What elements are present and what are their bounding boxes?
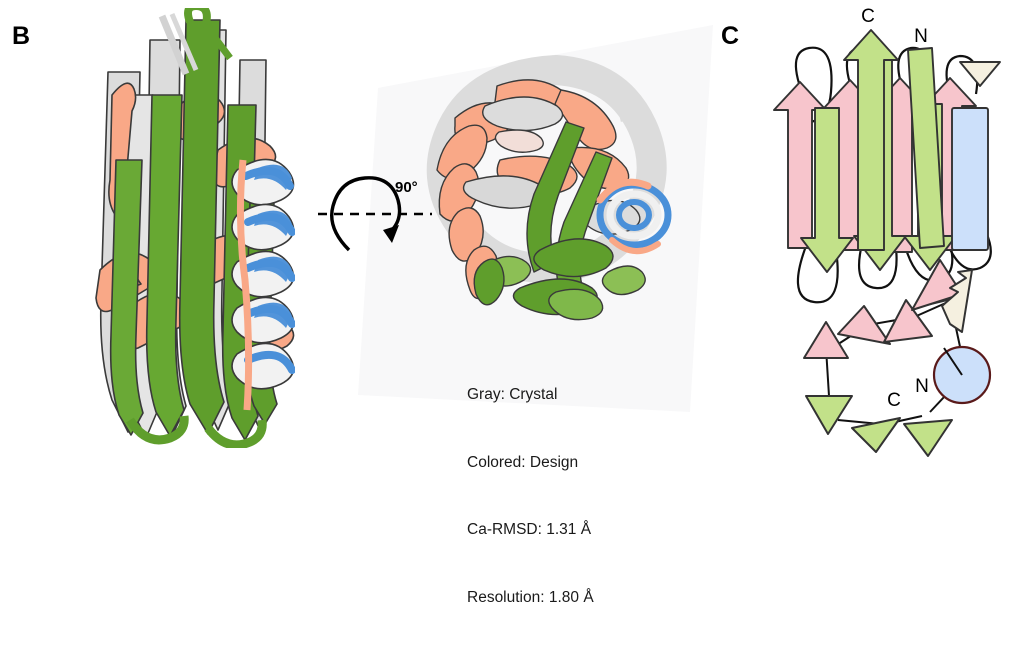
- cross-section-c-terminus-label: C: [887, 390, 901, 411]
- cross-section-n-terminus-label: N: [915, 376, 929, 397]
- barrel-cross-section-diagram: C N: [0, 0, 1031, 456]
- annotation-line-rmsd: Ca-RMSD: 1.31 Å: [467, 519, 594, 542]
- annotation-line-resolution: Resolution: 1.80 Å: [467, 587, 594, 610]
- figure-canvas: 90°: [0, 0, 1031, 456]
- panel-label-b: B: [12, 22, 30, 51]
- panel-label-c: C: [721, 22, 739, 51]
